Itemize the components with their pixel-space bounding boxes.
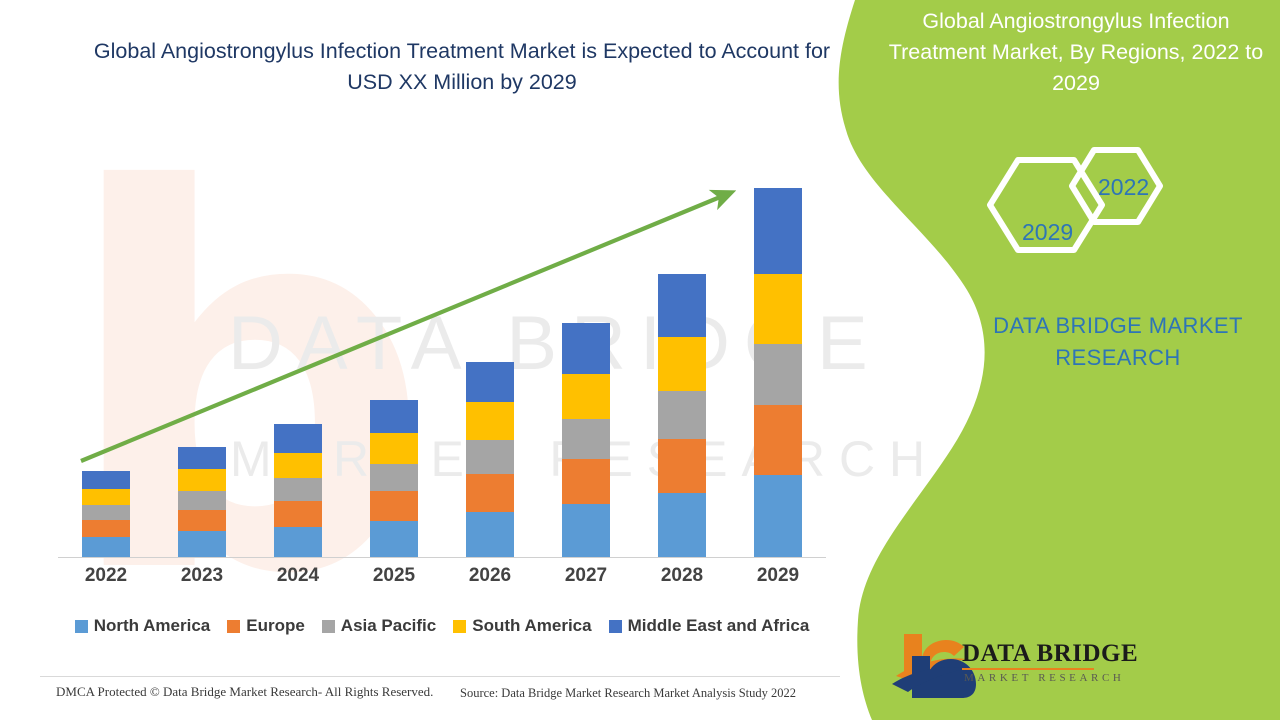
legend-item[interactable]: Asia Pacific xyxy=(322,616,436,636)
x-axis-label-2027: 2027 xyxy=(538,565,634,587)
copyright-text: DMCA Protected © Data Bridge Market Rese… xyxy=(56,684,433,700)
source-text: Source: Data Bridge Market Research Mark… xyxy=(460,686,796,701)
hexagon-label-2022: 2022 xyxy=(1098,174,1149,201)
bar-segment[interactable] xyxy=(178,510,226,531)
bar-segment[interactable] xyxy=(82,471,130,489)
bar-segment[interactable] xyxy=(370,491,418,521)
legend-item[interactable]: Europe xyxy=(227,616,305,636)
legend-label: Asia Pacific xyxy=(341,616,436,636)
bar-slot-2027 xyxy=(538,130,634,557)
hexagon-label-2029: 2029 xyxy=(1022,219,1073,246)
legend-label: North America xyxy=(94,616,211,636)
slide-canvas: b DATA BRIDGE MARKET RESEARCH Global Ang… xyxy=(0,0,1280,720)
stacked-bar-2025[interactable] xyxy=(370,400,418,557)
bar-segment[interactable] xyxy=(274,527,322,557)
bar-segment[interactable] xyxy=(754,475,802,557)
hexagon-group xyxy=(960,120,1280,310)
x-axis-label-2026: 2026 xyxy=(442,565,538,587)
stacked-bar-group xyxy=(58,130,826,557)
bar-segment[interactable] xyxy=(658,439,706,493)
bar-segment[interactable] xyxy=(562,459,610,504)
bar-segment[interactable] xyxy=(658,493,706,557)
x-axis-line xyxy=(58,557,826,558)
legend-item[interactable]: South America xyxy=(453,616,591,636)
bar-segment[interactable] xyxy=(178,469,226,490)
bar-segment[interactable] xyxy=(178,447,226,469)
bar-slot-2022 xyxy=(58,130,154,557)
bar-segment[interactable] xyxy=(274,501,322,527)
legend-label: Europe xyxy=(246,616,305,636)
stacked-bar-2022[interactable] xyxy=(82,471,130,557)
x-axis-label-2022: 2022 xyxy=(58,565,154,587)
bar-segment[interactable] xyxy=(274,453,322,479)
stacked-bar-2027[interactable] xyxy=(562,323,610,557)
bar-slot-2023 xyxy=(154,130,250,557)
legend-swatch-icon xyxy=(609,620,622,633)
x-axis-label-2023: 2023 xyxy=(154,565,250,587)
bar-segment[interactable] xyxy=(562,419,610,459)
bar-segment[interactable] xyxy=(754,274,802,344)
footer-divider xyxy=(40,676,840,677)
bar-slot-2028 xyxy=(634,130,730,557)
bar-segment[interactable] xyxy=(274,424,322,452)
chart-legend: North AmericaEuropeAsia PacificSouth Ame… xyxy=(58,616,826,636)
bar-segment[interactable] xyxy=(562,374,610,419)
bar-segment[interactable] xyxy=(754,188,802,273)
legend-item[interactable]: North America xyxy=(75,616,211,636)
bar-segment[interactable] xyxy=(466,474,514,512)
chart-plot-area xyxy=(58,130,826,558)
stacked-bar-2028[interactable] xyxy=(658,274,706,557)
x-axis-label-2024: 2024 xyxy=(250,565,346,587)
bar-segment[interactable] xyxy=(370,433,418,463)
bar-segment[interactable] xyxy=(370,400,418,434)
x-axis-label-2028: 2028 xyxy=(634,565,730,587)
logo-name-text: DATA BRIDGE xyxy=(962,640,1138,668)
bar-segment[interactable] xyxy=(466,362,514,402)
bar-segment[interactable] xyxy=(274,478,322,500)
x-axis-label-2029: 2029 xyxy=(730,565,826,587)
bar-segment[interactable] xyxy=(370,521,418,557)
bar-segment[interactable] xyxy=(658,337,706,391)
chart-title: Global Angiostrongylus Infection Treatme… xyxy=(92,36,832,98)
legend-swatch-icon xyxy=(227,620,240,633)
bar-segment[interactable] xyxy=(82,520,130,537)
legend-label: Middle East and Africa xyxy=(628,616,810,636)
bar-segment[interactable] xyxy=(466,512,514,557)
logo-tagline-text: MARKET RESEARCH xyxy=(964,672,1124,684)
brand-name-text: DATA BRIDGE MARKET RESEARCH xyxy=(968,310,1268,374)
bar-segment[interactable] xyxy=(562,504,610,557)
stacked-bar-2024[interactable] xyxy=(274,424,322,557)
x-axis-labels: 20222023202420252026202720282029 xyxy=(58,565,826,587)
bar-segment[interactable] xyxy=(658,274,706,337)
bar-segment[interactable] xyxy=(82,537,130,557)
bar-segment[interactable] xyxy=(82,505,130,520)
stacked-bar-2029[interactable] xyxy=(754,188,802,557)
bar-slot-2029 xyxy=(730,130,826,557)
logo-underline xyxy=(962,668,1094,670)
bar-slot-2026 xyxy=(442,130,538,557)
bar-segment[interactable] xyxy=(754,405,802,475)
right-panel-title: Global Angiostrongylus Infection Treatme… xyxy=(886,6,1266,99)
bar-segment[interactable] xyxy=(754,344,802,406)
stacked-bar-2026[interactable] xyxy=(466,362,514,557)
bar-segment[interactable] xyxy=(178,491,226,510)
legend-swatch-icon xyxy=(322,620,335,633)
legend-swatch-icon xyxy=(453,620,466,633)
bar-slot-2024 xyxy=(250,130,346,557)
legend-item[interactable]: Middle East and Africa xyxy=(609,616,810,636)
bar-segment[interactable] xyxy=(562,323,610,374)
x-axis-label-2025: 2025 xyxy=(346,565,442,587)
bar-segment[interactable] xyxy=(178,531,226,557)
bar-segment[interactable] xyxy=(370,464,418,491)
bar-segment[interactable] xyxy=(658,391,706,439)
stacked-bar-2023[interactable] xyxy=(178,447,226,557)
bar-segment[interactable] xyxy=(82,489,130,506)
legend-swatch-icon xyxy=(75,620,88,633)
bar-slot-2025 xyxy=(346,130,442,557)
bar-segment[interactable] xyxy=(466,402,514,440)
legend-label: South America xyxy=(472,616,591,636)
bar-segment[interactable] xyxy=(466,440,514,474)
